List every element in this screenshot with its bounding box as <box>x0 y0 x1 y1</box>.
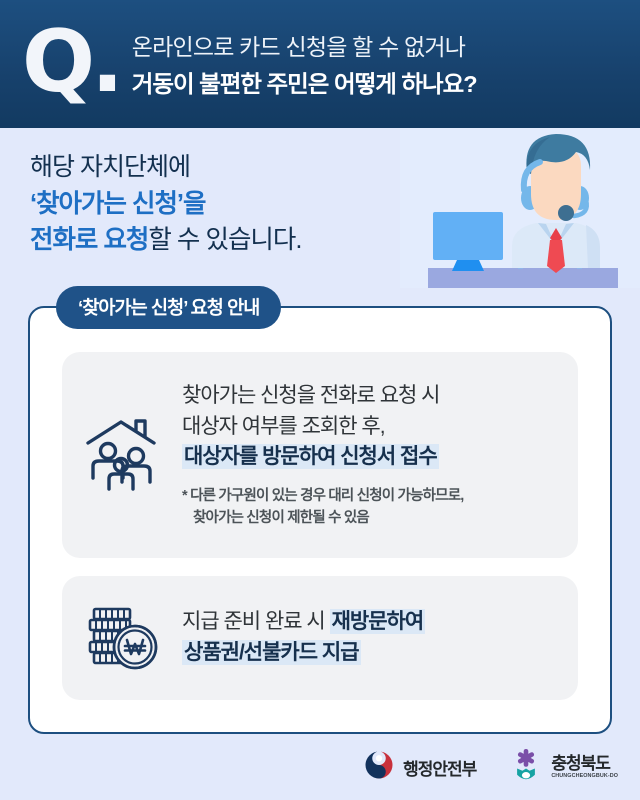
header-question-line1: 온라인으로 카드 신청을 할 수 없거나 <box>132 28 477 62</box>
question-mark-logo: Q. <box>22 19 120 105</box>
coin-stack-won-icon <box>62 601 182 675</box>
guide-step-panel-1-text: 찾아가는 신청을 전화로 요청 시 대상자 여부를 조회한 후, 대상자를 방문… <box>182 381 578 529</box>
panel2-line2-highlight: 상품권/선불카드 지급 <box>182 640 361 665</box>
footer-logos: 행정안전부 충청북도 CHUNGCHEONGBUK-DO <box>0 734 640 800</box>
answer-line3: 전화로 요청할 수 있습니다. <box>30 222 301 258</box>
guide-step-panel-1: 찾아가는 신청을 전화로 요청 시 대상자 여부를 조회한 후, 대상자를 방문… <box>62 352 578 558</box>
panel2-line1-highlight: 재방문하여 <box>330 609 426 634</box>
answer-line2: ‘찾아가는 신청’을 <box>30 186 301 222</box>
guide-step-panel-2: 지급 준비 완료 시 재방문하여 상품권/선불카드 지급 <box>62 576 578 700</box>
logo-group-mois: 행정안전부 <box>364 750 476 785</box>
header-question-line2: 거동이 불편한 주민은 어떻게 하나요? <box>132 65 477 99</box>
panel1-line3: 대상자를 방문하여 신청서 접수 <box>182 442 564 473</box>
panel2-line2: 상품권/선불카드 지급 <box>182 638 564 669</box>
guide-card-badge: ‘찾아가는 신청’ 요청 안내 <box>56 286 281 329</box>
header-question-text: 온라인으로 카드 신청을 할 수 없거나 거동이 불편한 주민은 어떻게 하나요… <box>132 28 477 101</box>
answer-line1: 해당 자치단체에 <box>30 150 301 186</box>
logo-group-chungbuk: 충청북도 CHUNGCHEONGBUK-DO <box>510 748 618 787</box>
answer-line3-emphasis: 전화로 요청 <box>30 226 148 254</box>
taegeuk-mois-icon <box>364 750 394 785</box>
panel1-note-line1: * 다른 가구원이 있는 경우 대리 신청이 가능하므로, <box>182 488 463 504</box>
panel1-note: * 다른 가구원이 있는 경우 대리 신청이 가능하므로, 찾아가는 신청이 제… <box>182 485 564 529</box>
answer-line3-plain: 할 수 있습니다. <box>148 226 301 254</box>
house-family-icon <box>62 416 182 494</box>
header-banner: Q. 온라인으로 카드 신청을 할 수 없거나 거동이 불편한 주민은 어떻게 … <box>0 0 640 128</box>
call-center-agent-illustration <box>400 128 640 288</box>
logo-label-chungbuk: 충청북도 <box>551 755 618 772</box>
panel1-line1: 찾아가는 신청을 전화로 요청 시 <box>182 381 564 412</box>
panel2-line1-plain: 지급 준비 완료 시 <box>182 610 330 633</box>
panel1-line2: 대상자 여부를 조회한 후, <box>182 412 564 443</box>
chungbuk-flower-icon <box>510 748 542 787</box>
logo-text-chungbuk: 충청북도 CHUNGCHEONGBUK-DO <box>551 755 618 779</box>
answer-section: 해당 자치단체에 ‘찾아가는 신청’을 전화로 요청할 수 있습니다. <box>0 128 640 305</box>
panel2-line1: 지급 준비 완료 시 재방문하여 <box>182 607 564 638</box>
answer-text-block: 해당 자치단체에 ‘찾아가는 신청’을 전화로 요청할 수 있습니다. <box>30 150 301 258</box>
logo-label-mois: 행정안전부 <box>403 755 476 780</box>
panel1-note-line2: 찾아가는 신청이 제한될 수 있음 <box>182 507 564 529</box>
guide-step-panel-2-text: 지급 준비 완료 시 재방문하여 상품권/선불카드 지급 <box>182 607 578 668</box>
logo-sublabel-chungbuk: CHUNGCHEONGBUK-DO <box>551 774 618 779</box>
panel1-line3-highlight: 대상자를 방문하여 신청서 접수 <box>182 444 439 469</box>
header-content: Q. 온라인으로 카드 신청을 할 수 없거나 거동이 불편한 주민은 어떻게 … <box>0 0 640 128</box>
